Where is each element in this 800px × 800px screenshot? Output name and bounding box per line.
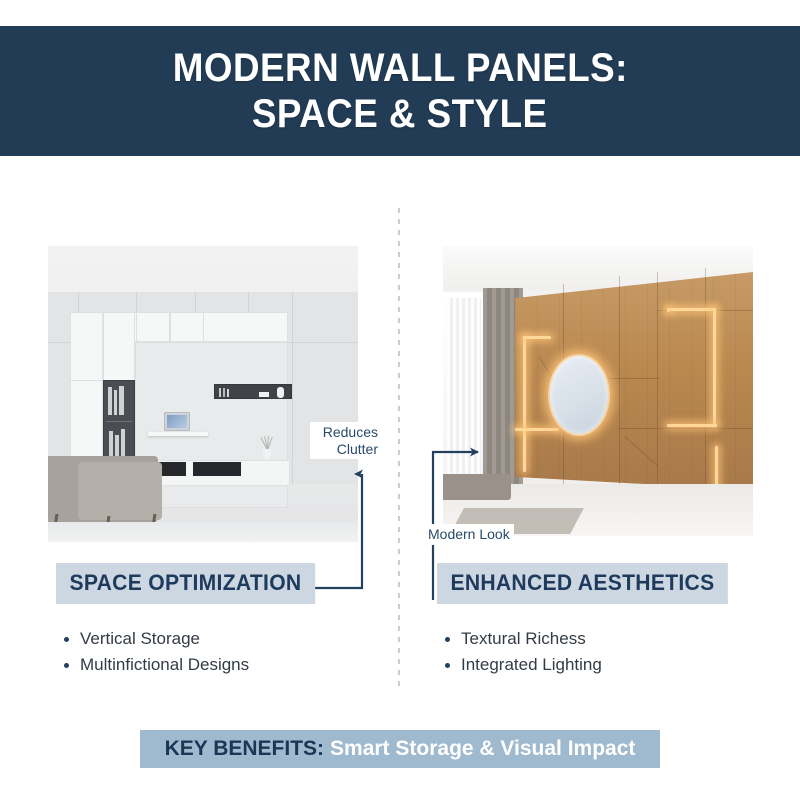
column-divider — [398, 208, 400, 690]
bullet-list-enhanced-aesthetics: Textural Richess Integrated Lighting — [443, 626, 602, 678]
section-heading-enhanced-aesthetics: ENHANCED AESTHETICS — [437, 563, 740, 604]
key-benefits-banner: KEY BENEFITS: Smart Storage & Visual Imp… — [140, 730, 660, 768]
section-heading-label: ENHANCED AESTHETICS — [437, 563, 728, 604]
page-title-line-2: SPACE & STYLE — [252, 91, 548, 137]
key-benefits-value: Smart Storage & Visual Impact — [330, 737, 635, 761]
column-space-optimization — [48, 246, 378, 542]
living-room-storage-photo — [48, 246, 358, 542]
wood-panel-wall-photo — [443, 246, 753, 536]
callout-modern-look: Modern Look — [424, 524, 514, 545]
header-banner: MODERN WALL PANELS: SPACE & STYLE — [0, 26, 800, 156]
bullet-list-space-optimization: Vertical Storage Multinfictional Designs — [62, 626, 249, 678]
key-benefits-label: KEY BENEFITS: — [165, 737, 324, 761]
column-enhanced-aesthetics — [443, 246, 753, 536]
list-item: Multinfictional Designs — [62, 652, 249, 678]
section-heading-label: SPACE OPTIMIZATION — [56, 563, 315, 604]
list-item: Textural Richess — [443, 626, 602, 652]
section-heading-space-optimization: SPACE OPTIMIZATION — [56, 563, 326, 604]
callout-reduces-clutter: Reduces Clutter — [310, 422, 382, 459]
list-item: Integrated Lighting — [443, 652, 602, 678]
infographic-canvas: MODERN WALL PANELS: SPACE & STYLE — [0, 0, 800, 800]
list-item: Vertical Storage — [62, 626, 249, 652]
page-title-line-1: MODERN WALL PANELS: — [172, 45, 627, 91]
